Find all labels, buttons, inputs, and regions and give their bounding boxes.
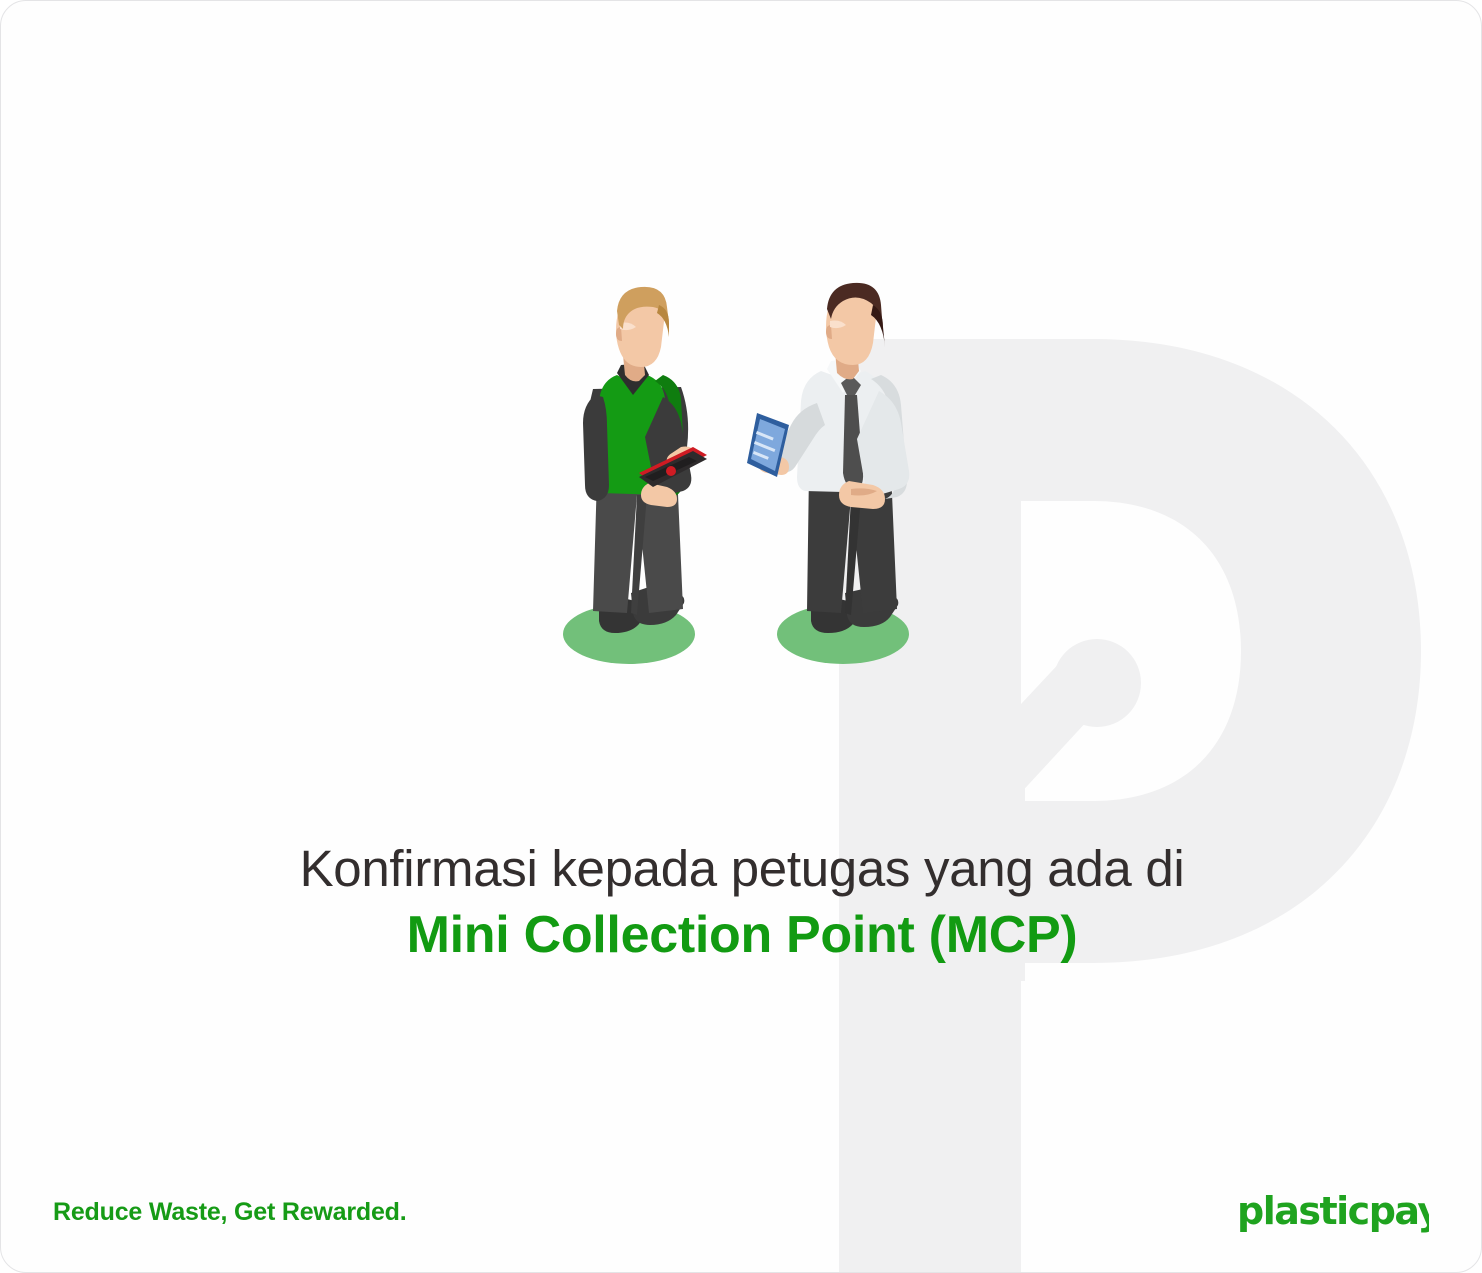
headline-line-2: Mini Collection Point (MCP) bbox=[1, 905, 1482, 966]
plasticpay-wordmark-text: plasticpay bbox=[1237, 1189, 1429, 1233]
figure-mcp-officer bbox=[583, 287, 707, 633]
figure-customer bbox=[747, 283, 909, 633]
footer-tagline: Reduce Waste, Get Rewarded. bbox=[53, 1198, 407, 1227]
headline-line-1: Konfirmasi kepada petugas yang ada di bbox=[1, 839, 1482, 899]
slide-canvas: Konfirmasi kepada petugas yang ada di Mi… bbox=[0, 0, 1482, 1273]
plasticpay-logo: plasticpay bbox=[1237, 1189, 1429, 1235]
headline: Konfirmasi kepada petugas yang ada di Mi… bbox=[1, 839, 1482, 967]
plasticpay-wordmark-icon: plasticpay bbox=[1237, 1189, 1429, 1235]
illustration-two-officers bbox=[521, 271, 951, 671]
